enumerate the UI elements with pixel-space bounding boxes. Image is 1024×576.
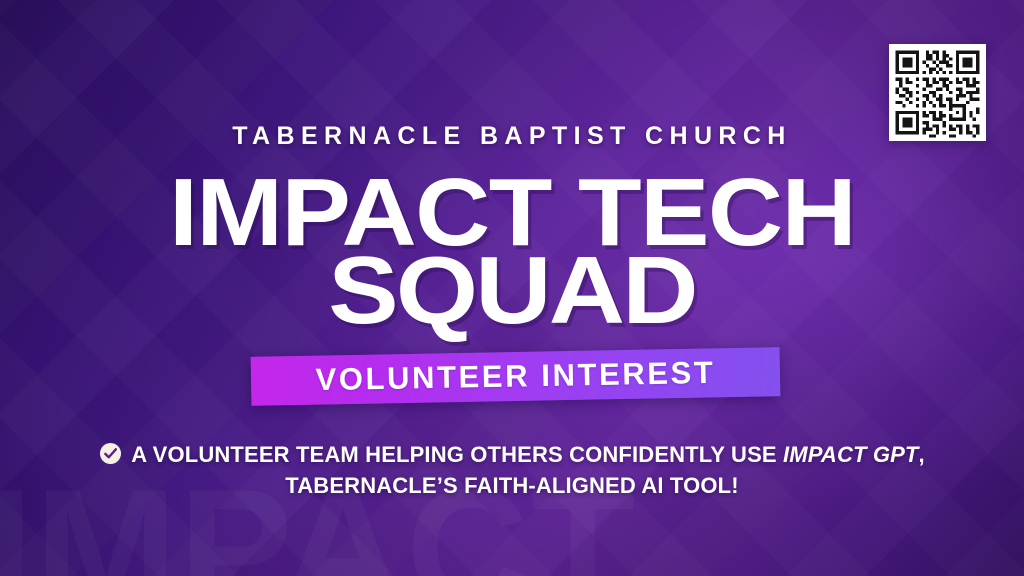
status-badge-label: VOLUNTEER INTEREST	[315, 354, 715, 397]
status-badge: VOLUNTEER INTEREST	[251, 347, 781, 406]
promo-poster: IMPACT	[0, 0, 1024, 576]
subtitle-line-1: A VOLUNTEER TEAM HELPING OTHERS CONFIDEN…	[0, 440, 1024, 471]
poster-content: TABERNACLE BAPTIST CHURCH IMPACT TECH SQ…	[0, 0, 1024, 576]
subtitle-text-before: A VOLUNTEER TEAM HELPING OTHERS CONFIDEN…	[131, 442, 783, 467]
subtitle-line-2: TABERNACLE’S FAITH-ALIGNED AI TOOL!	[0, 471, 1024, 502]
church-name-eyebrow: TABERNACLE BAPTIST CHURCH	[0, 122, 1024, 151]
page-title-line-2: SQUAD	[0, 250, 1024, 331]
subtitle: A VOLUNTEER TEAM HELPING OTHERS CONFIDEN…	[0, 440, 1024, 502]
subtitle-emphasis-impact-gpt: IMPACT GPT	[783, 442, 919, 467]
check-badge-icon	[99, 442, 122, 465]
subtitle-text-after: ,	[919, 442, 925, 467]
